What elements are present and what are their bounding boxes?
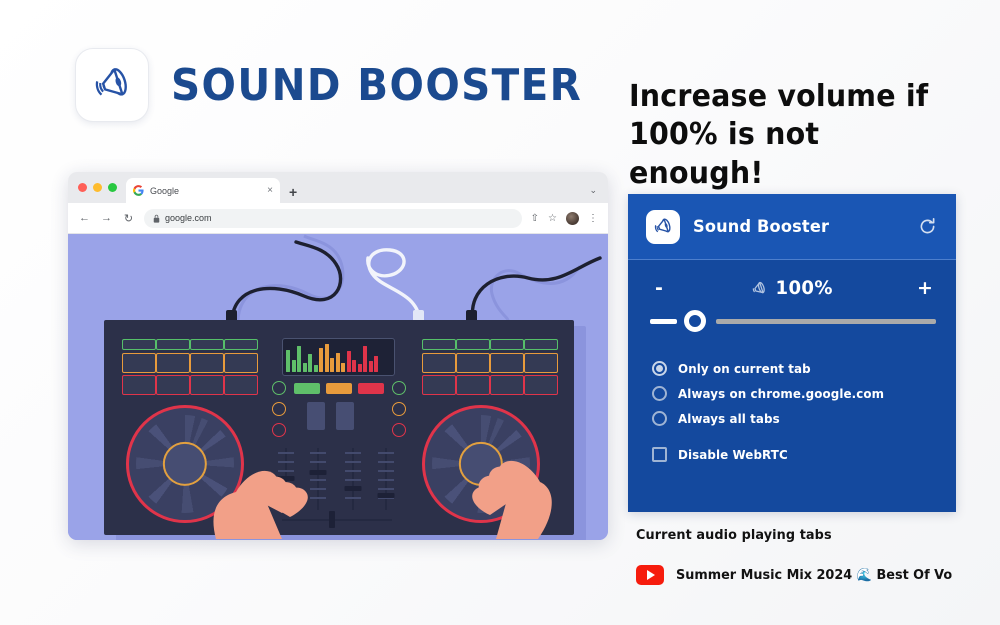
promo-page: SOUND BOOSTER Increase volume if 100% is… <box>0 0 1000 625</box>
headline: Increase volume if 100% is not enough! <box>629 78 962 193</box>
radio-option-always-on-domain[interactable]: Always on chrome.google.com <box>652 381 934 406</box>
headline-line-1: Increase volume if <box>629 78 962 116</box>
maximize-window-button[interactable] <box>108 183 117 192</box>
reload-button[interactable]: ↻ <box>122 212 135 225</box>
audio-tab-title-prefix: Summer Music Mix 2024 <box>676 567 857 583</box>
volume-controls: - 100% + <box>628 260 956 299</box>
volume-readout: 100% <box>668 277 916 299</box>
avatar[interactable] <box>566 212 579 225</box>
lock-icon <box>153 214 160 223</box>
address-bar[interactable]: google.com <box>144 209 522 228</box>
browser-viewport <box>68 234 608 540</box>
radio-option-label: Only on current tab <box>678 361 811 376</box>
audio-tab-title-suffix: Best Of Vocals Deep ... <box>872 567 951 583</box>
extension-popup: Sound Booster - 100% <box>628 194 956 512</box>
checkbox-icon[interactable] <box>652 447 667 462</box>
radio-icon[interactable] <box>652 386 667 401</box>
scope-options: Only on current tab Always on chrome.goo… <box>628 332 956 467</box>
refresh-icon <box>917 216 938 237</box>
browser-tabbar: Google × + ⌄ <box>68 172 608 203</box>
volume-slider-track[interactable] <box>716 319 936 324</box>
tab-title: Google <box>150 186 261 196</box>
popup-header: Sound Booster <box>628 194 956 260</box>
volume-value: 100% <box>775 277 832 299</box>
forward-button[interactable]: → <box>100 212 113 224</box>
refresh-button[interactable] <box>917 216 938 237</box>
back-button[interactable]: ← <box>78 212 91 224</box>
radio-icon[interactable] <box>652 361 667 376</box>
browser-window: Google × + ⌄ ← → ↻ google.com ⇧ ☆ ⋮ <box>68 172 608 540</box>
popup-title: Sound Booster <box>693 217 893 237</box>
url-text: google.com <box>165 213 212 223</box>
speaker-icon <box>90 63 134 107</box>
browser-menu-icon[interactable]: ⋮ <box>588 213 598 224</box>
radio-option-label: Always all tabs <box>678 411 780 426</box>
radio-option-current-tab[interactable]: Only on current tab <box>652 356 934 381</box>
list-item[interactable]: Summer Music Mix 2024 🌊 Best Of Vocals D… <box>636 565 966 585</box>
radio-option-label: Always on chrome.google.com <box>678 386 884 401</box>
hands-illustration <box>68 234 608 539</box>
wave-emoji-icon: 🌊 <box>857 568 872 583</box>
headline-line-2: 100% is not enough! <box>629 116 962 193</box>
speaker-icon <box>652 216 674 238</box>
audio-tab-title: Summer Music Mix 2024 🌊 Best Of Vocals D… <box>676 567 952 583</box>
volume-slider-thumb[interactable] <box>684 310 706 332</box>
brand-header: SOUND BOOSTER <box>75 48 618 122</box>
new-tab-button[interactable]: + <box>289 185 297 199</box>
radio-icon[interactable] <box>652 411 667 426</box>
minimize-window-button[interactable] <box>93 183 102 192</box>
close-window-button[interactable] <box>78 183 87 192</box>
volume-decrease-button[interactable]: - <box>650 279 668 298</box>
chevron-down-icon[interactable]: ⌄ <box>589 185 597 196</box>
close-tab-button[interactable]: × <box>267 186 273 196</box>
youtube-icon <box>636 565 664 585</box>
audio-tabs-heading: Current audio playing tabs <box>636 527 950 543</box>
brand-logo-box <box>75 48 149 122</box>
current-audio-tabs-section: Current audio playing tabs Summer Music … <box>636 527 966 585</box>
google-g-icon <box>133 185 144 196</box>
popup-logo-box <box>646 210 680 244</box>
bookmark-star-icon[interactable]: ☆ <box>548 213 557 224</box>
share-icon[interactable]: ⇧ <box>531 213 539 224</box>
radio-option-always-all-tabs[interactable]: Always all tabs <box>652 406 934 431</box>
browser-toolbar: ← → ↻ google.com ⇧ ☆ ⋮ <box>68 203 608 234</box>
page-title: SOUND BOOSTER <box>171 60 582 111</box>
checkbox-option-label: Disable WebRTC <box>678 447 788 462</box>
window-controls <box>78 172 126 203</box>
checkbox-option-disable-webrtc[interactable]: Disable WebRTC <box>652 442 934 467</box>
volume-slider-fill <box>650 319 677 324</box>
volume-slider[interactable] <box>628 299 956 332</box>
speaker-muted-icon <box>750 281 767 296</box>
volume-increase-button[interactable]: + <box>916 279 934 298</box>
browser-tab[interactable]: Google × <box>126 178 280 203</box>
